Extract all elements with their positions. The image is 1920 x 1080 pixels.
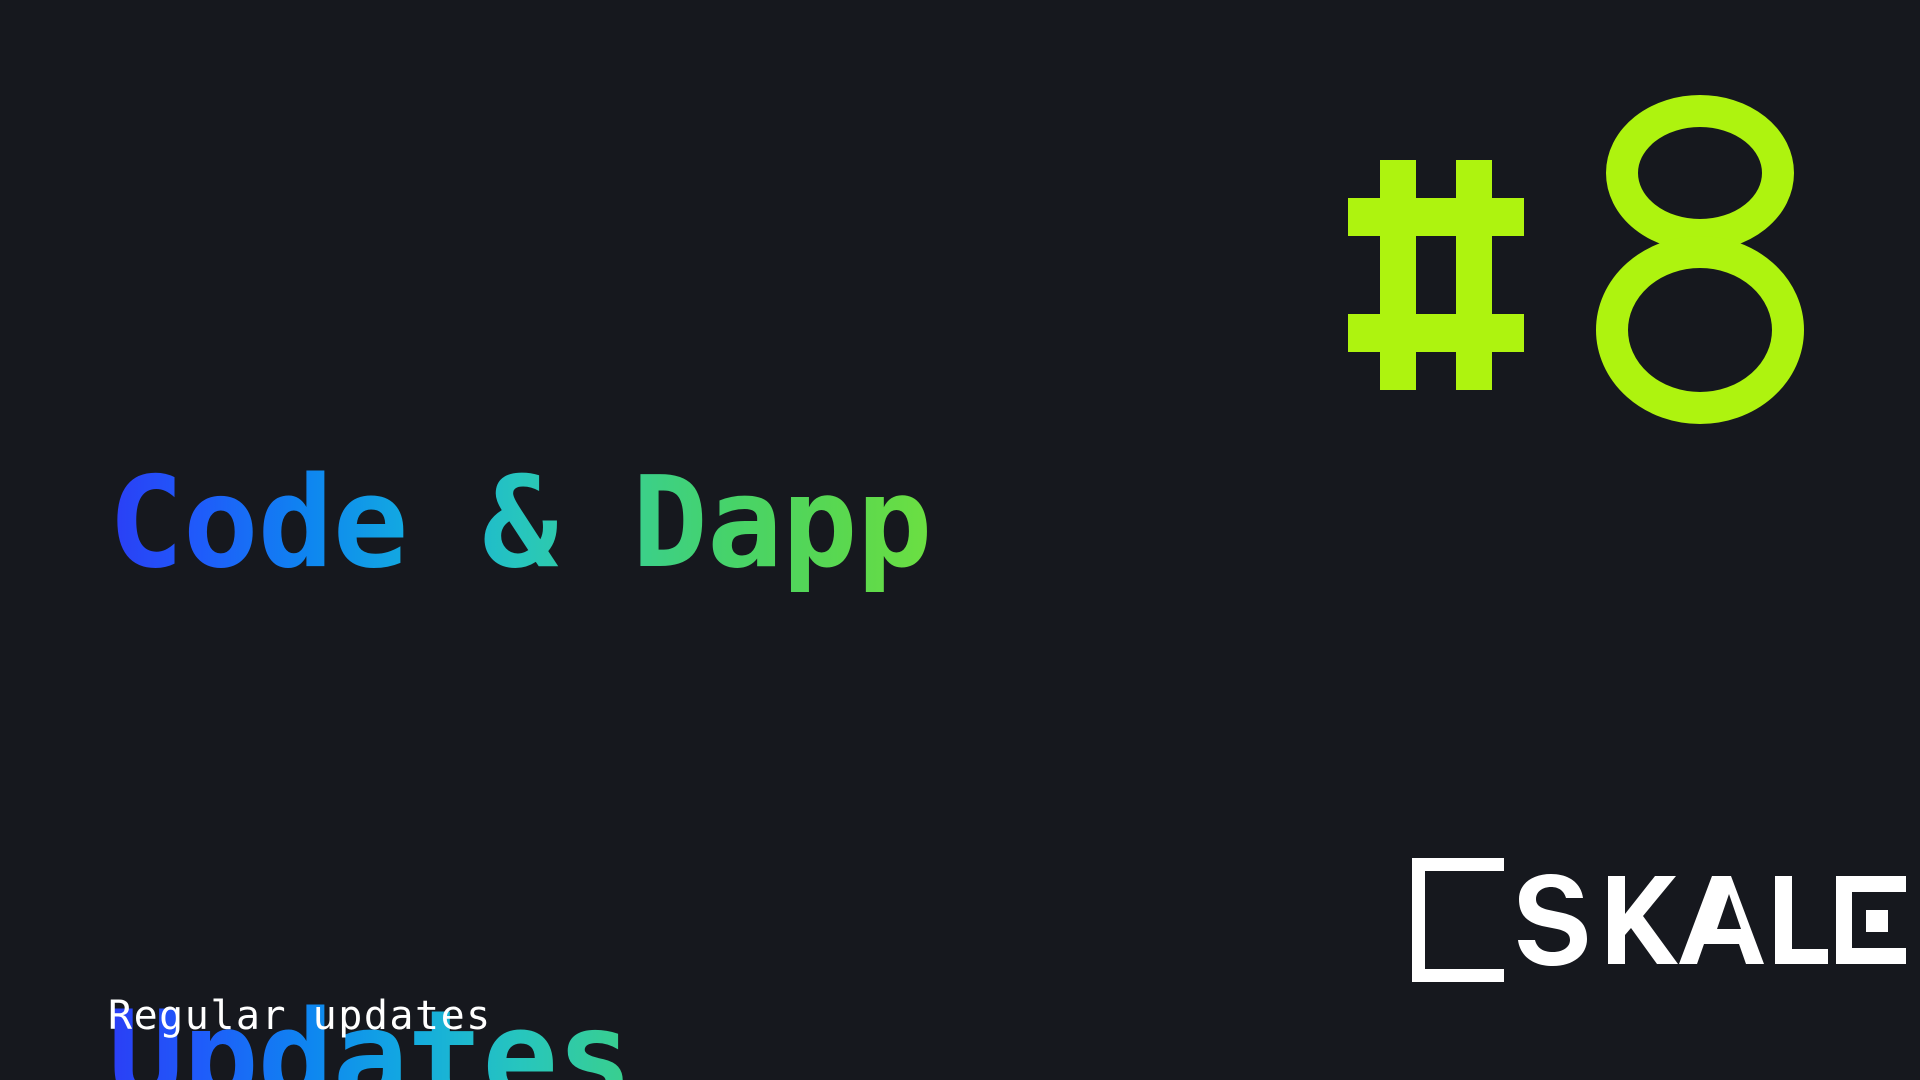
skale-logo [1412,858,1828,982]
hash-icon [1348,160,1524,390]
skale-wordmark [1518,874,1828,966]
tagline-line-1: Regular updates [108,978,568,1054]
slide-canvas: Code & Dapp Updates Regular updates from… [0,0,1920,1080]
e-middle-dot [1866,910,1888,932]
tagline: Regular updates from the core team [108,826,568,1080]
open-bracket-icon [1412,858,1504,982]
headline-line-1: Code & Dapp [108,434,1118,612]
issue-number [1338,58,1808,458]
skale-letter-e [1836,858,1920,982]
issue-digit-8 [1612,111,1788,408]
e-top-bar [1836,876,1906,892]
e-bottom-bar [1836,948,1906,964]
